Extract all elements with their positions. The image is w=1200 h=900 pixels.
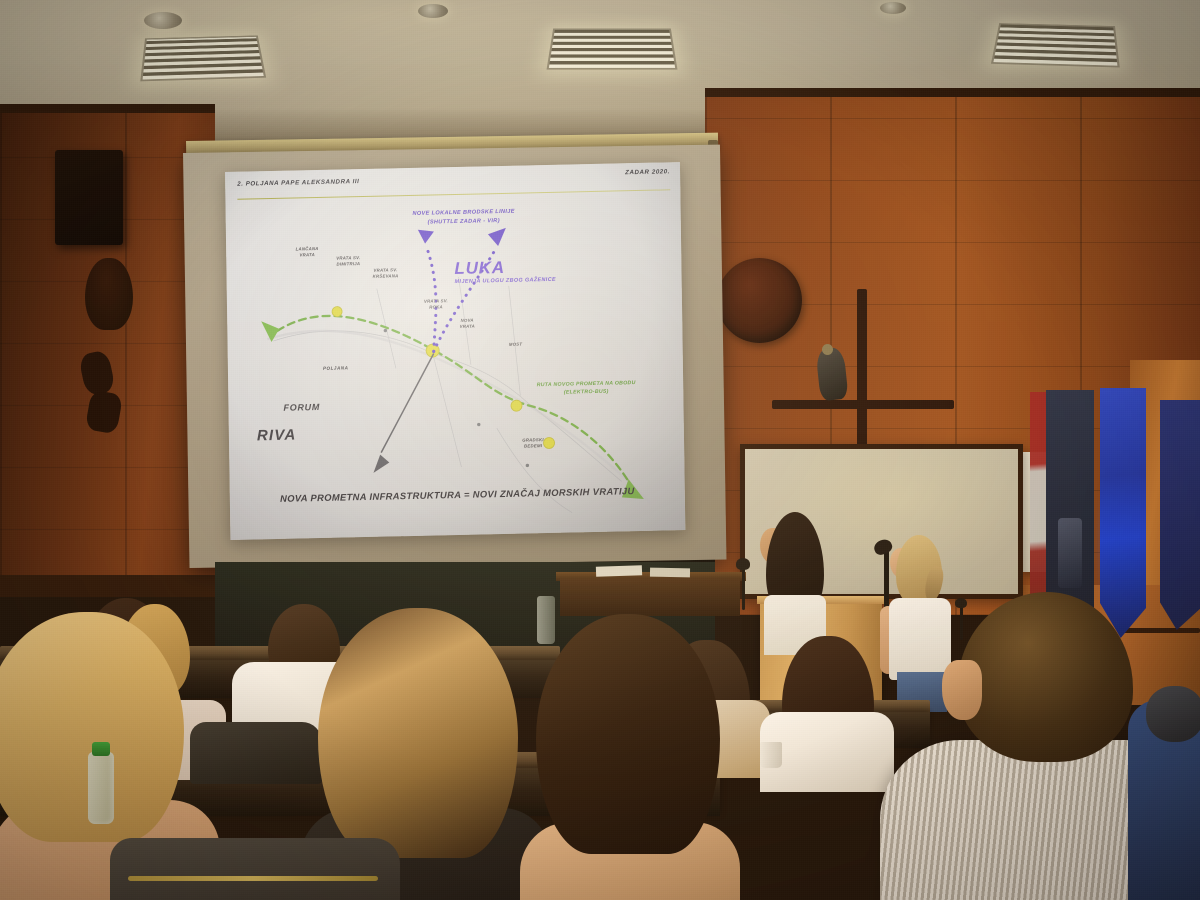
flag-city-crest: [1058, 518, 1082, 588]
ceiling-light-panel-2: [547, 29, 678, 70]
plastic-cup: [760, 742, 782, 768]
gate-dimitrija-l2: DIMITRIJA: [322, 261, 374, 268]
crucifix-horizontal: [772, 400, 954, 409]
flag-fourth: [1160, 400, 1200, 630]
water-bottle: [88, 752, 114, 824]
right-wall-trim: [705, 88, 1200, 97]
backpack: [110, 838, 400, 900]
gate-bedemi-l2: BEDEMI: [509, 443, 557, 450]
front-brunette-hair: [318, 608, 518, 858]
right-edge-cap: [1146, 686, 1200, 742]
microphone-head-1: [736, 558, 750, 570]
desk-paper-2: [650, 568, 690, 578]
ceiling-downlight-2: [418, 4, 448, 18]
presenter-desk-front: [560, 578, 740, 616]
gate-most-l1: MOST: [496, 341, 536, 348]
gate-label-most: MOST: [496, 341, 536, 348]
front-dark-hair: [536, 614, 720, 854]
wall-relief-disc: [717, 258, 802, 343]
slide-luka-title: LUKA: [454, 258, 505, 279]
gate-nova-l2: VRATA: [445, 323, 489, 330]
ceiling-light-panel-3: [991, 23, 1120, 67]
gate-krsevana-l2: KRŠEVANA: [359, 273, 413, 280]
microphone-stem-1: [742, 566, 745, 610]
water-bottle-cap: [92, 742, 110, 756]
curly-person-ear-neck: [942, 660, 982, 720]
microphone-head-3: [955, 598, 967, 608]
place-label-riva: RIVA: [257, 427, 297, 445]
gate-roka-l2: ROKA: [411, 304, 461, 311]
desk-bottle: [537, 596, 555, 644]
wall-sculpture-large: [85, 258, 133, 330]
crucifix-figure-head: [822, 344, 833, 355]
gate-label-krsevana: VRATA SV. KRŠEVANA: [358, 267, 412, 280]
microphone-stem-3: [960, 604, 963, 640]
desk-paper-1: [596, 565, 642, 577]
seat-bag: [190, 722, 322, 784]
wall-rail: [1120, 628, 1200, 633]
left-wall-trim: [0, 104, 215, 113]
ceiling-light-panel-1: [140, 35, 266, 81]
wall-speaker: [55, 150, 123, 245]
gate-label-bedemi: GRADSKI BEDEMI: [509, 437, 557, 450]
presentation-slide: 2. POLJANA PAPE ALEKSANDRA III ZADAR 202…: [225, 162, 685, 540]
place-label-forum: FORUM: [283, 402, 320, 413]
gate-label-dimitrija: VRATA SV. DIMITRIJA: [322, 255, 374, 268]
slide-bus-route-annotation: RUTA NOVOG PROMETA NA OBODU (ELEKTRO-BUS…: [516, 379, 656, 398]
ceiling-downlight-3: [880, 2, 906, 14]
ceiling-downlight-1: [144, 12, 182, 29]
gate-label-nova: NOVA VRATA: [445, 317, 489, 330]
flag-eu: [1100, 388, 1146, 638]
left-wall-base-trim: [0, 575, 216, 597]
presenter-2-top: [889, 598, 951, 680]
gate-label-roka: VRATA SV. ROKA: [411, 298, 461, 311]
lecture-hall-photo: 2. POLJANA PAPE ALEKSANDRA III ZADAR 202…: [0, 0, 1200, 900]
place-label-poljana: POLJANA: [323, 365, 349, 371]
backpack-zipper: [128, 876, 378, 881]
